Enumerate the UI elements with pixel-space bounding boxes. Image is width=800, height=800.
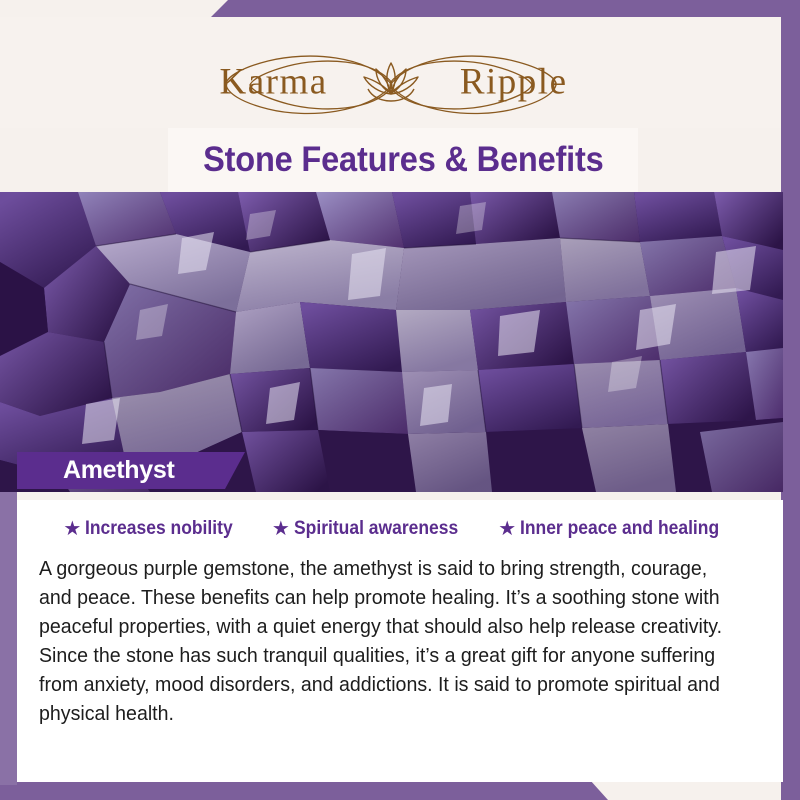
stone-description: A gorgeous purple gemstone, the amethyst… <box>39 554 729 728</box>
frame-right-bar <box>781 0 800 800</box>
benefit-item: ★ Increases nobility <box>63 518 245 540</box>
stone-name-banner: Amethyst <box>17 452 245 489</box>
brand-name-right: Ripple <box>460 61 568 104</box>
frame-top-bar <box>0 0 800 17</box>
star-icon: ★ <box>272 519 290 539</box>
benefit-label: Increases nobility <box>85 518 233 540</box>
frame-bottom-bar <box>0 780 800 800</box>
benefit-item: ★ Inner peace and healing <box>498 518 736 540</box>
content-panel: ★ Increases nobility ★ Spiritual awarene… <box>17 500 783 782</box>
stone-name: Amethyst <box>63 456 175 485</box>
frame-left-bar <box>0 490 17 785</box>
benefit-label: Spiritual awareness <box>294 518 458 540</box>
brand-logo: Karma Ripple <box>196 39 586 125</box>
star-icon: ★ <box>63 519 81 539</box>
amethyst-photo <box>0 192 783 492</box>
header: Karma Ripple <box>0 17 781 128</box>
page-title: Stone Features & Benefits <box>203 140 604 180</box>
benefit-item: ★ Spiritual awareness <box>272 518 472 540</box>
infographic-card: Karma Ripple Stone Features & Benefits <box>0 0 800 800</box>
benefit-label: Inner peace and healing <box>520 518 719 540</box>
star-icon: ★ <box>498 519 516 539</box>
title-banner: Stone Features & Benefits <box>168 128 638 192</box>
brand-name-left: Karma <box>220 61 328 104</box>
benefits-list: ★ Increases nobility ★ Spiritual awarene… <box>17 500 783 540</box>
